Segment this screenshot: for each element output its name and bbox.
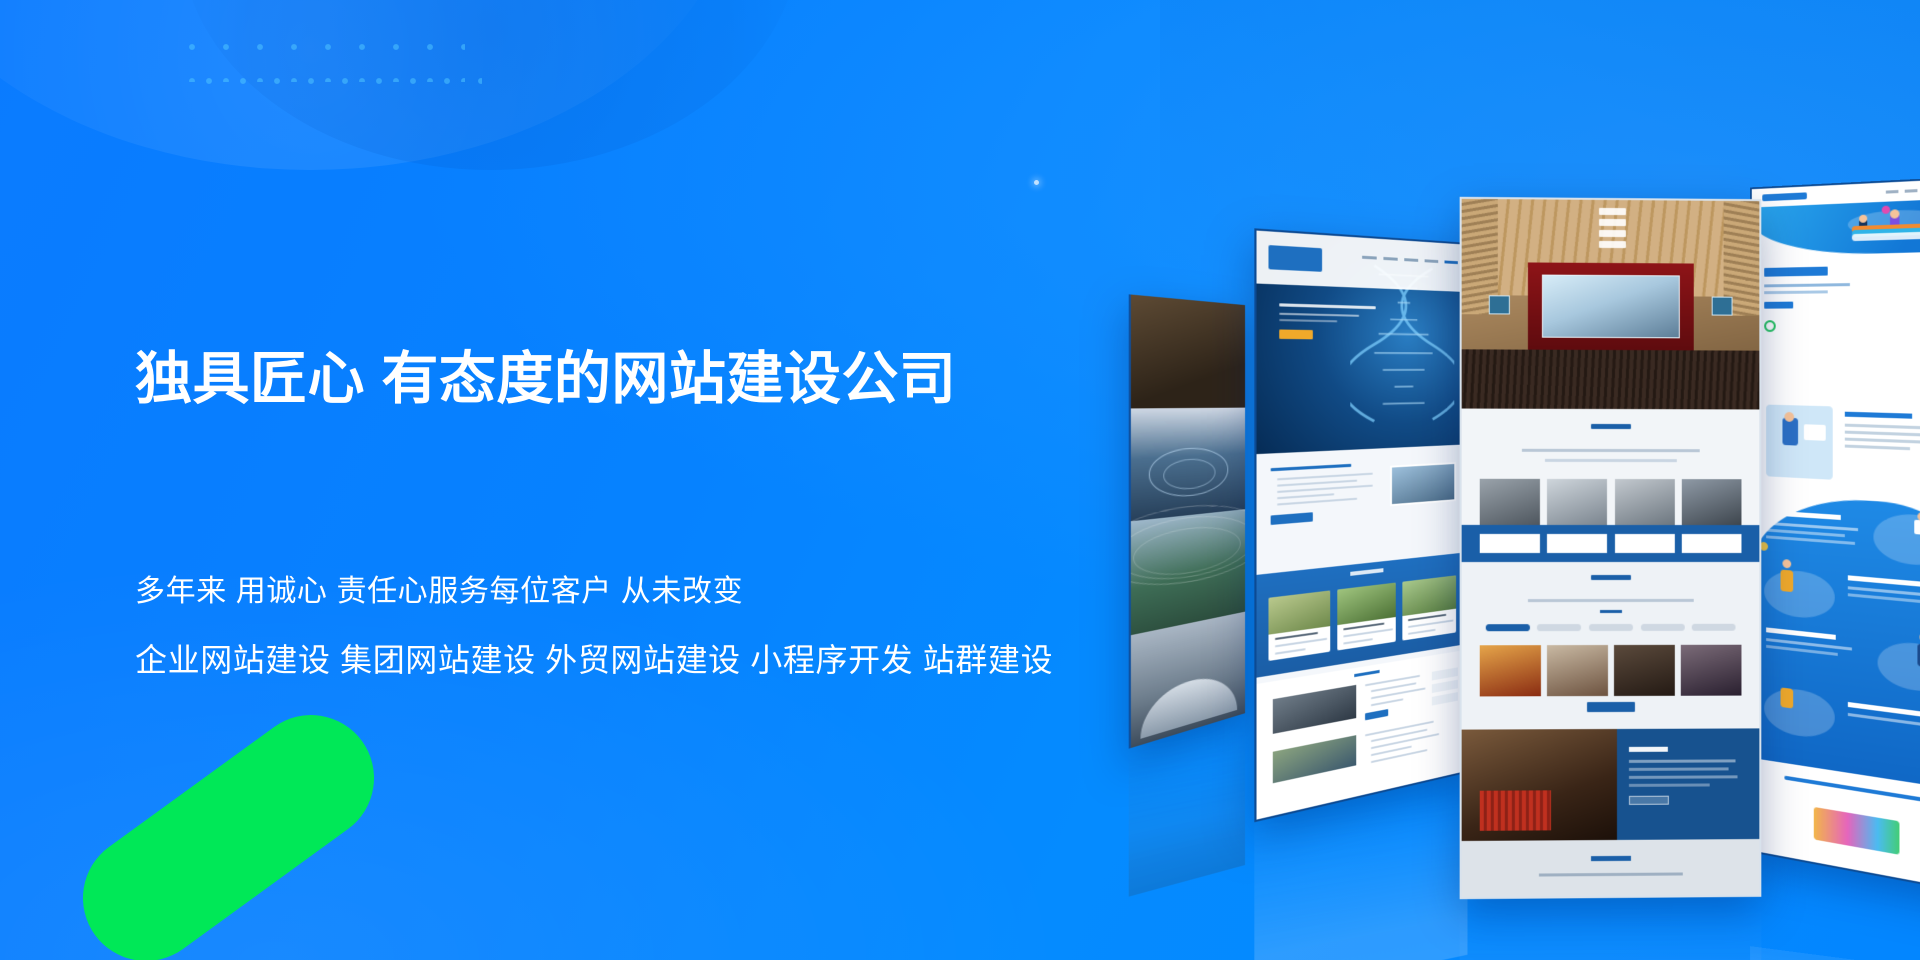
showcase-screen-auditorium[interactable] [1460, 197, 1762, 899]
biotech-product-section [1257, 552, 1466, 677]
biotech-cta-button[interactable] [1279, 330, 1313, 340]
green-pill-shape [58, 690, 399, 960]
biotech-nav-bar[interactable] [1257, 231, 1466, 292]
auditorium-product-tab[interactable] [1486, 624, 1530, 631]
auditorium-advantage-thumb[interactable] [1547, 479, 1607, 525]
auditorium-product-section [1462, 562, 1760, 730]
education-brand-title [1764, 267, 1828, 277]
dot-grid-pattern-row1 [175, 30, 465, 82]
auditorium-footer-section [1462, 839, 1760, 897]
auditorium-more-button[interactable] [1587, 702, 1635, 712]
biotech-news-photo [1273, 685, 1357, 734]
auditorium-advantage-thumb[interactable] [1615, 479, 1675, 525]
auditorium-about-section [1462, 728, 1760, 841]
education-advantages-section [1752, 493, 1920, 791]
biotech-photo-2 [1273, 735, 1357, 784]
auditorium-advantage-section [1462, 408, 1760, 562]
auditorium-product-tab[interactable] [1589, 624, 1633, 631]
dot-grid-pattern-row2 [192, 64, 482, 90]
biotech-logo [1268, 245, 1322, 272]
auditorium-about-button[interactable] [1629, 795, 1669, 804]
reflection-aerial [1129, 723, 1245, 897]
hero-banner: 独具匠心 有态度的网站建设公司 多年来 用诚心 责任心服务每位客户 从未改变 企… [0, 0, 1920, 960]
website-showcase-collage: DESIGN [1140, 240, 1920, 860]
education-logo [1762, 192, 1807, 201]
auditorium-product-item[interactable] [1681, 645, 1741, 695]
background-glow-arc [0, 0, 740, 170]
education-feature-row [1752, 388, 1920, 521]
biotech-body [1257, 445, 1466, 820]
biotech-product-card[interactable] [1268, 591, 1330, 661]
auditorium-product-item[interactable] [1547, 645, 1608, 695]
auditorium-product-tab[interactable] [1692, 623, 1736, 630]
education-cta-button[interactable] [1764, 302, 1793, 309]
auditorium-product-tab[interactable] [1537, 624, 1581, 631]
reflection-auditorium [1460, 898, 1762, 960]
biotech-product-card[interactable] [1338, 583, 1396, 651]
aerial-photo-2 [1131, 407, 1245, 521]
sparkle-dot-upper [1034, 180, 1039, 185]
background-shadow-arc [180, 0, 800, 170]
aerial-photo-4 [1131, 611, 1245, 748]
biotech-inline-photo [1390, 462, 1457, 507]
auditorium-advantage-thumb[interactable] [1682, 479, 1741, 525]
banner-subline-two: 企业网站建设 集团网站建设 外贸网站建设 小程序开发 站群建设 [135, 635, 1053, 681]
biotech-news-section [1257, 650, 1466, 819]
auditorium-product-tab[interactable] [1640, 624, 1684, 631]
banner-subline-one: 多年来 用诚心 责任心服务每位客户 从未改变 [135, 566, 743, 610]
auditorium-hero-photo [1462, 199, 1760, 409]
showcase-screen-biotech[interactable] [1254, 228, 1467, 822]
education-header [1752, 178, 1920, 392]
banner-headline: 独具匠心 有态度的网站建设公司 [135, 349, 956, 411]
biotech-more-button[interactable] [1270, 512, 1312, 525]
education-circle-accent [1764, 321, 1776, 333]
auditorium-product-item[interactable] [1480, 646, 1541, 696]
biotech-product-card[interactable] [1403, 575, 1457, 640]
aerial-photo-1 [1131, 295, 1245, 408]
showcase-screen-aerial[interactable] [1129, 294, 1245, 748]
showcase-screen-education[interactable] [1750, 176, 1920, 893]
auditorium-advantage-thumb[interactable] [1480, 479, 1540, 525]
auditorium-product-item[interactable] [1614, 645, 1675, 695]
aerial-photo-3 [1131, 509, 1245, 635]
